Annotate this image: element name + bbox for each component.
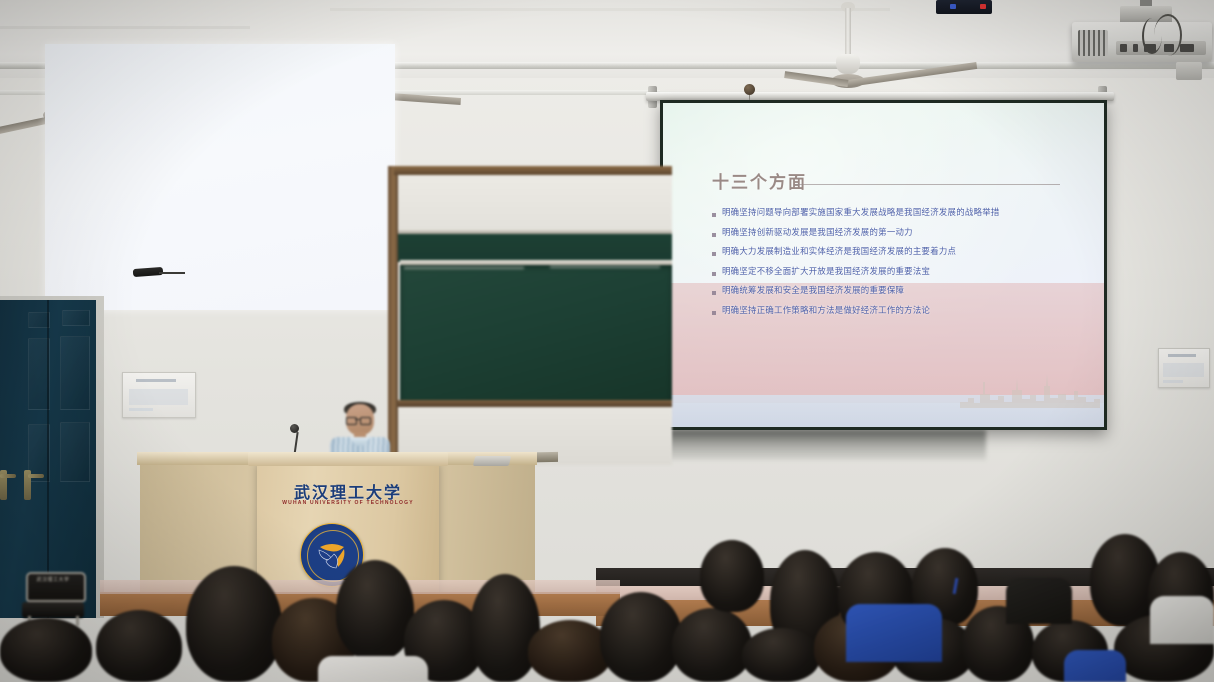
lectern-top-edge	[248, 452, 448, 466]
bullet-square-icon	[712, 252, 716, 256]
fan-blade	[848, 62, 978, 87]
bullet-square-icon	[712, 311, 716, 315]
door-panel	[60, 422, 90, 482]
screen-pull-knob	[744, 84, 755, 95]
eyeglasses-bridge	[355, 419, 360, 420]
emblem-swirl-graphic	[314, 537, 350, 573]
bullet-square-icon	[712, 233, 716, 237]
eyeglasses-icon	[360, 417, 371, 425]
slide-title-rule	[795, 184, 1060, 185]
folding-chair[interactable]: 武汉理工大学	[22, 572, 84, 624]
bullet-square-icon	[712, 213, 716, 217]
university-name-en: WUHAN UNIVERSITY OF TECHNOLOGY	[276, 500, 420, 506]
door-lever-right[interactable]	[28, 474, 44, 478]
ceiling-fan-right	[786, 2, 986, 102]
ceiling-seam-left	[0, 26, 250, 29]
slide-bullet-text: 明确统筹发展和安全是我国经济发展的重要保障	[722, 286, 904, 295]
notice-title-line	[136, 379, 176, 382]
notice-row	[129, 389, 188, 405]
slide-bullet-item: 明确坚持创新驱动发展是我国经济发展的第一动力	[712, 228, 1062, 237]
fan-rod	[845, 8, 851, 58]
audience-head	[700, 540, 764, 612]
audience-head	[528, 620, 612, 682]
blackboard-frame-bottom	[398, 400, 672, 407]
wall-speaker	[1176, 62, 1202, 80]
projector-port	[1180, 44, 1194, 52]
audience-head	[336, 560, 414, 660]
slide-bullet-item: 明确统筹发展和安全是我国经济发展的重要保障	[712, 286, 1062, 295]
slide-bullet-text: 明确坚持正确工作策略和方法是做好经济工作的方法论	[722, 306, 930, 315]
notice-row	[1163, 380, 1183, 383]
projector-vent-grille	[1078, 30, 1108, 56]
projector-cable	[1142, 18, 1162, 54]
audience-head	[742, 628, 820, 682]
audience-shirt-white	[318, 656, 428, 682]
wall-panel-above-blackboard	[398, 175, 672, 230]
audience-head	[672, 608, 752, 682]
slide-bullet-text: 明确坚持创新驱动发展是我国经济发展的第一动力	[722, 228, 913, 237]
audience-head	[600, 592, 682, 682]
audience-shirt-white	[1150, 596, 1214, 644]
slide-bullet-item: 明确坚持问题导向部署实施国家重大发展战略是我国经济发展的战略举措	[712, 208, 1062, 217]
blackboard-upper-panel	[398, 234, 672, 262]
slide-title: 十三个方面	[712, 168, 807, 193]
bullet-square-icon	[712, 291, 716, 295]
door-lever-left[interactable]	[0, 474, 16, 478]
slide-bullet-item: 明确坚持正确工作策略和方法是做好经济工作的方法论	[712, 306, 1062, 315]
bullet-square-icon	[712, 272, 716, 276]
chair-seat	[22, 602, 84, 618]
slide-bullet-text: 明确坚持问题导向部署实施国家重大发展战略是我国经济发展的战略举措	[722, 208, 1000, 217]
ceiling-device-box	[936, 0, 992, 14]
fan-blade	[784, 71, 848, 87]
door-panel	[62, 310, 90, 326]
chair-backrest-label: 武汉理工大学	[30, 577, 76, 583]
notice-board-right	[1158, 348, 1210, 388]
audience-head	[186, 566, 282, 682]
lecture-hall-photograph: 十三个方面 明确坚持问题导向部署实施国家重大发展战略是我国经济发展的战略举措 明…	[0, 0, 1214, 682]
notice-title-line	[1168, 354, 1196, 357]
door-panel	[60, 336, 90, 410]
slide-surface	[45, 44, 395, 310]
notice-row	[1163, 363, 1204, 377]
blackboard-main-panel	[400, 265, 672, 402]
slide-bullet-text: 明确坚定不移全面扩大开放是我国经济发展的重要法宝	[722, 267, 930, 276]
slide-bullet-item: 明确大力发展制造业和实体经济是我国经济发展的主要着力点	[712, 247, 1062, 256]
chalk-dust	[550, 266, 660, 268]
audience-shirt-dark	[1006, 578, 1072, 624]
wall-microphone-arm	[159, 272, 185, 274]
chalk-dust	[404, 267, 524, 269]
indicator-light-blue	[950, 4, 956, 9]
blackboard-assembly	[388, 166, 672, 466]
slide-skyline-graphic	[960, 372, 1100, 408]
audience-head	[470, 574, 540, 682]
audience-head	[96, 610, 182, 682]
projector-port	[1133, 44, 1138, 52]
notice-row	[129, 408, 153, 411]
podium-microphone-head	[290, 424, 299, 433]
audience-head	[0, 618, 92, 682]
slide-bullet-text: 明确大力发展制造业和实体经济是我国经济发展的主要着力点	[722, 247, 956, 256]
fan-motor	[836, 54, 860, 74]
slide-bullet-item: 明确坚定不移全面扩大开放是我国经济发展的重要法宝	[712, 267, 1062, 276]
notice-board-left	[122, 372, 196, 418]
audience-shirt-blue	[1064, 650, 1126, 682]
projector-port	[1120, 44, 1127, 52]
indicator-light-red	[980, 4, 986, 9]
door-center-seam	[47, 300, 49, 618]
blackboard-frame-top	[394, 166, 672, 175]
screen-shadow	[668, 430, 986, 460]
laptop-on-counter	[473, 456, 511, 466]
slide-bullet-list: 明确坚持问题导向部署实施国家重大发展战略是我国经济发展的战略举措 明确坚持创新驱…	[712, 208, 1062, 325]
chair-leg	[76, 616, 79, 626]
audience-shirt-blue	[846, 604, 942, 662]
